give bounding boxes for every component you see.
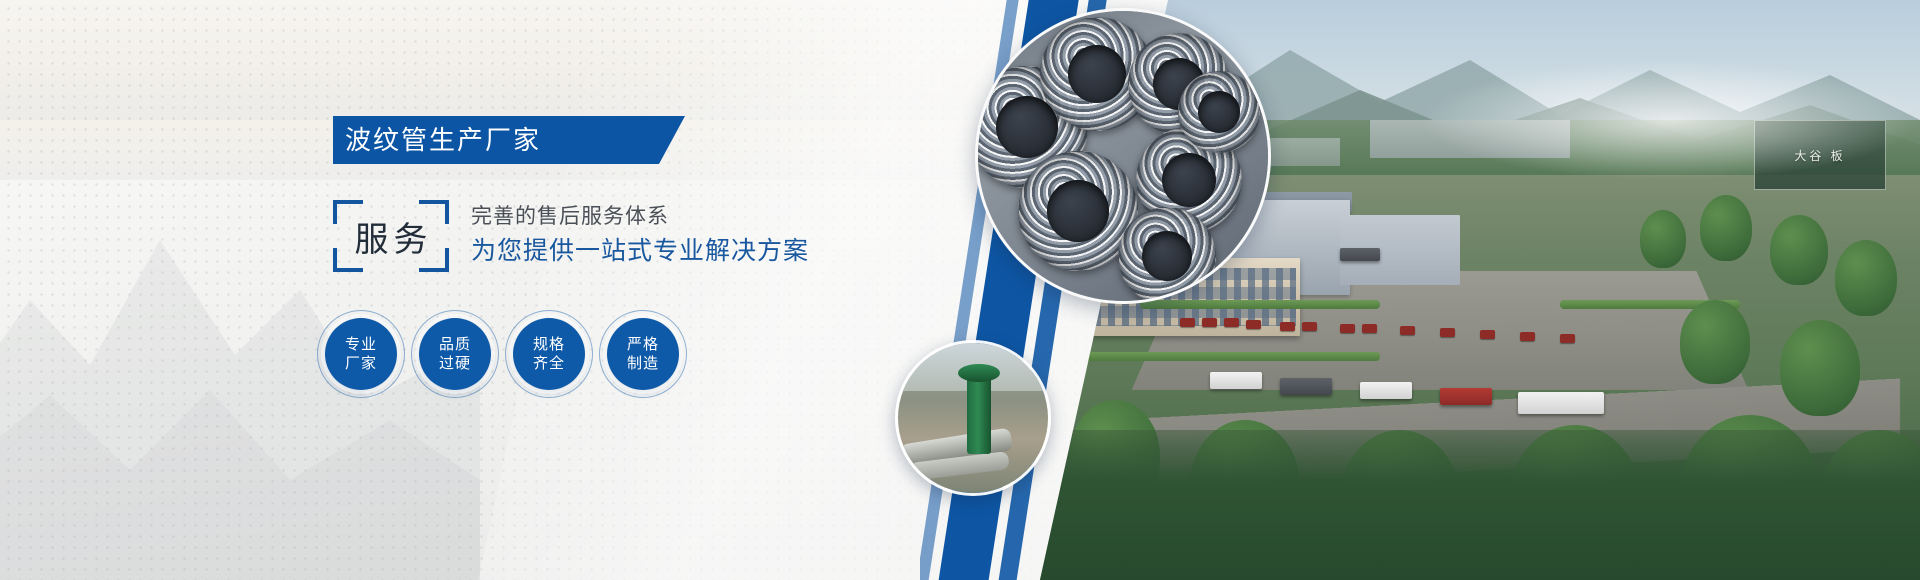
valve-handwheel <box>958 364 1000 382</box>
photo-car <box>1480 330 1495 339</box>
photo-car <box>1280 322 1295 331</box>
feature-badge-list: 专业 厂家 品质 过硬 规格 齐全 严格 制造 <box>325 318 679 390</box>
page-title: 波纹管生产厂家 <box>333 127 541 153</box>
photo-tree <box>1770 215 1828 285</box>
corner-top-left-icon <box>333 200 363 224</box>
photo-car <box>1302 322 1317 331</box>
photo-car <box>1440 328 1455 337</box>
photo-tree <box>1835 240 1897 316</box>
photo-car <box>1362 324 1377 333</box>
photo-car <box>1340 324 1355 333</box>
photo-truck <box>1280 378 1332 395</box>
photo-car <box>1400 326 1415 335</box>
valve-body <box>967 376 991 454</box>
photo-tree <box>1780 320 1860 416</box>
photo-truck <box>1210 372 1262 389</box>
corrugated-pipes-circle-photo <box>975 8 1271 304</box>
photo-car <box>1224 318 1239 327</box>
feature-badge-line2: 厂家 <box>345 354 377 373</box>
pipeline-valve-circle-photo <box>895 340 1051 496</box>
photo-car <box>1202 318 1217 327</box>
corner-bottom-right-icon <box>419 248 449 272</box>
photo-truck <box>1360 382 1412 399</box>
photo-truck <box>1440 388 1492 405</box>
photo-tree <box>1640 210 1686 268</box>
feature-badge-line1: 专业 <box>345 335 377 354</box>
pipe <box>1118 207 1216 304</box>
feature-badge[interactable]: 严格 制造 <box>607 318 679 390</box>
photo-truck <box>1518 392 1604 414</box>
service-text-group: 完善的售后服务体系 为您提供一站式专业解决方案 <box>471 203 809 268</box>
corner-bottom-left-icon <box>333 248 363 272</box>
feature-badge-line1: 规格 <box>533 335 565 354</box>
feature-badge-line2: 制造 <box>627 354 659 373</box>
feature-badge[interactable]: 规格 齐全 <box>513 318 585 390</box>
photo-foreground-trees <box>1040 430 1920 580</box>
feature-badge-line1: 品质 <box>439 335 471 354</box>
pipe <box>1178 71 1260 153</box>
banner-title-bar: 波纹管生产厂家 <box>333 116 685 164</box>
feature-badge[interactable]: 专业 厂家 <box>325 318 397 390</box>
photo-tree <box>1680 300 1750 384</box>
photo-car <box>1560 334 1575 343</box>
photo-car <box>1246 320 1261 329</box>
photo-truck <box>1340 248 1380 261</box>
feature-badge-line2: 过硬 <box>439 354 471 373</box>
service-block: 服务 完善的售后服务体系 为您提供一站式专业解决方案 <box>333 200 809 272</box>
service-tagline-secondary: 为您提供一站式专业解决方案 <box>471 234 809 269</box>
feature-badge-line2: 齐全 <box>533 354 565 373</box>
photo-mist <box>1420 60 1920 180</box>
promo-banner: 大谷 板 波纹管生产厂家 <box>0 0 1920 580</box>
service-tagline-primary: 完善的售后服务体系 <box>471 203 809 231</box>
photo-hedge-b <box>1140 300 1380 309</box>
photo-car <box>1180 318 1195 327</box>
feature-badge[interactable]: 品质 过硬 <box>419 318 491 390</box>
photo-car <box>1520 332 1535 341</box>
corner-top-right-icon <box>419 200 449 224</box>
photo-tree <box>1700 195 1752 261</box>
photo-hedge-a <box>1080 352 1380 361</box>
service-mark: 服务 <box>333 200 449 272</box>
feature-badge-line1: 严格 <box>627 335 659 354</box>
